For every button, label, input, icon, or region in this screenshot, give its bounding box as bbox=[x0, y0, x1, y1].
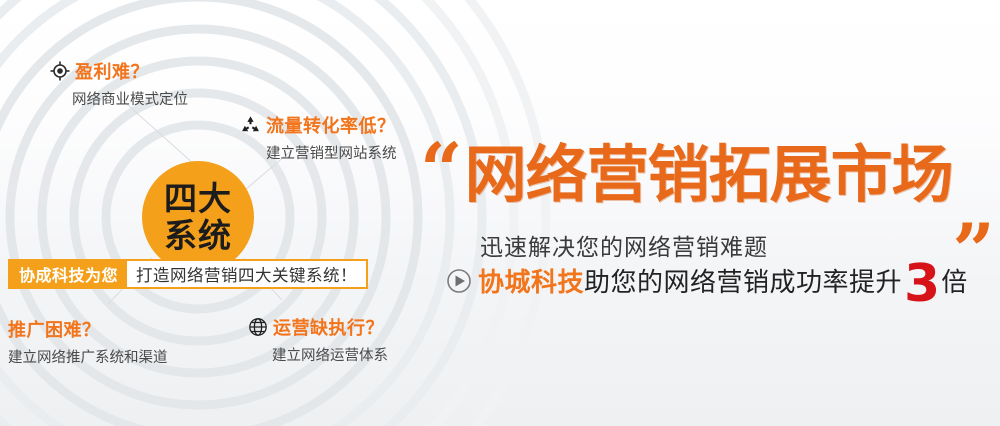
callout-operation: 运营缺执行？ 建立网络运营体系 bbox=[248, 314, 388, 365]
headline-block: “ 网络营销拓展市场 „ 迅速解决您的网络营销难题 协城科技 助您的网络营销成功… bbox=[420, 140, 1000, 320]
slogan-bar: 协成科技为您 打造网络营销四大关键系统！ bbox=[8, 259, 368, 289]
quote-close-icon: „ bbox=[954, 172, 997, 246]
callout-traffic-subtitle: 建立营销型网站系统 bbox=[266, 142, 397, 163]
callout-traffic-title: 流量转化率低？ bbox=[266, 112, 396, 138]
recycle-icon bbox=[240, 115, 261, 136]
slogan-bar-right-label: 打造网络营销四大关键系统！ bbox=[127, 261, 366, 287]
play-circle-icon bbox=[446, 268, 472, 294]
sub-line-2-unit: 倍 bbox=[941, 262, 967, 299]
callout-promotion: 推广困难？ 建立网络推广系统和渠道 bbox=[8, 316, 168, 367]
sub-line-2-number: 3 bbox=[904, 264, 940, 306]
callout-profit-title: 盈利难？ bbox=[75, 58, 149, 84]
callout-traffic-head: 流量转化率低？ bbox=[240, 112, 397, 138]
marketing-banner: 四大 系统 盈利难？ 网络商业模式定位 bbox=[0, 0, 1000, 426]
center-circle-line2: 系统 bbox=[164, 219, 232, 252]
callout-profit: 盈利难？ 网络商业模式定位 bbox=[50, 58, 188, 109]
callout-profit-subtitle: 网络商业模式定位 bbox=[72, 88, 188, 109]
center-circle-four-systems: 四大 系统 bbox=[142, 161, 254, 273]
callout-promotion-head: 推广困难？ bbox=[8, 316, 168, 342]
callout-promotion-title: 推广困难？ bbox=[8, 316, 101, 342]
callout-profit-head: 盈利难？ bbox=[50, 58, 188, 84]
center-circle-line1: 四大 bbox=[164, 182, 232, 215]
sub-line-2-brand: 协城科技 bbox=[478, 262, 584, 299]
callout-operation-subtitle: 建立网络运营体系 bbox=[272, 344, 388, 365]
headline-text: 网络营销拓展市场 bbox=[465, 144, 953, 206]
callout-operation-head: 运营缺执行？ bbox=[248, 314, 388, 340]
callout-traffic: 流量转化率低？ 建立营销型网站系统 bbox=[240, 112, 397, 163]
crosshair-target-icon bbox=[50, 61, 70, 81]
sub-line-1: 迅速解决您的网络营销难题 bbox=[480, 228, 768, 262]
headline-row: “ 网络营销拓展市场 „ bbox=[420, 140, 1000, 230]
quote-open-icon: “ bbox=[420, 134, 463, 208]
callout-promotion-subtitle: 建立网络推广系统和渠道 bbox=[8, 346, 168, 367]
sub-line-2: 协城科技 助您的网络营销成功率提升 3 倍 bbox=[446, 260, 967, 302]
slogan-bar-left-label: 协成科技为您 bbox=[10, 261, 127, 287]
callout-operation-title: 运营缺执行？ bbox=[273, 314, 384, 340]
globe-icon bbox=[248, 317, 268, 337]
sub-line-2-text: 助您的网络营销成功率提升 bbox=[584, 262, 902, 299]
